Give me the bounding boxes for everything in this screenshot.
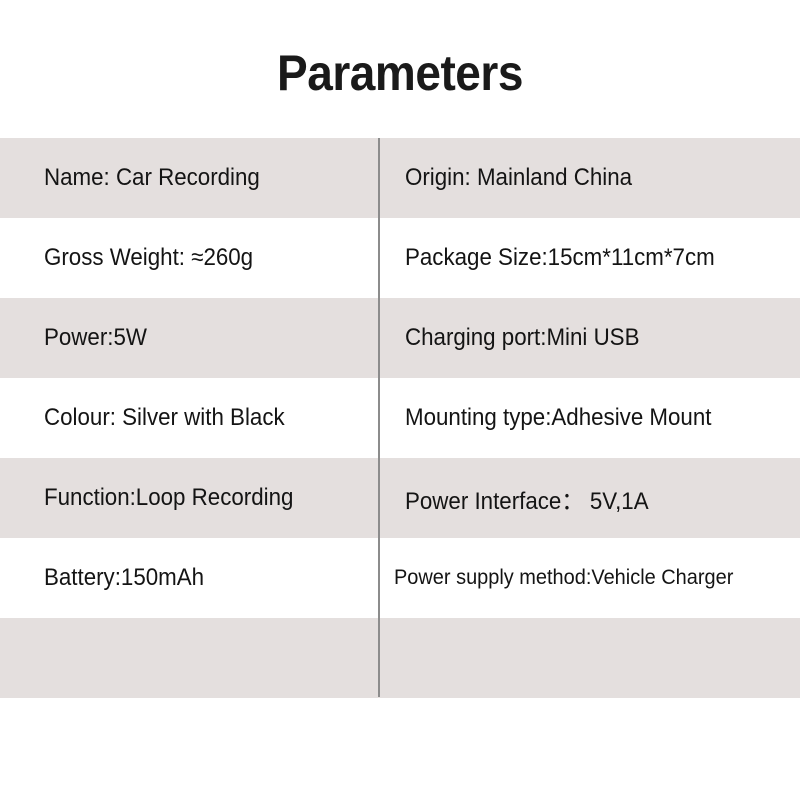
spec-cell-left: Name: Car Recording xyxy=(0,138,379,218)
spec-text: Mounting type:Adhesive Mount xyxy=(405,404,711,432)
spec-cell-left: Power:5W xyxy=(0,298,379,378)
parameters-page: Parameters Name: Car Recording Origin: M… xyxy=(0,0,800,800)
page-title: Parameters xyxy=(32,48,768,98)
spec-text: Power:5W xyxy=(44,324,147,352)
spec-cell-right: Power supply method:Vehicle Charger xyxy=(379,538,800,618)
spec-text: Colour: Silver with Black xyxy=(44,404,285,432)
specification-table: Name: Car Recording Origin: Mainland Chi… xyxy=(0,138,800,698)
spec-cell-right: Power Interface： 5V,1A xyxy=(379,458,800,538)
table-row: Function:Loop Recording Power Interface：… xyxy=(0,458,800,538)
spec-text: Power Interface： 5V,1A xyxy=(405,481,649,516)
spec-text: Power supply method:Vehicle Charger xyxy=(394,566,733,590)
spec-cell-right: Origin: Mainland China xyxy=(379,138,800,218)
spec-cell-left: Gross Weight: ≈260g xyxy=(0,218,379,298)
spec-cell-right xyxy=(379,618,800,698)
spec-cell-left xyxy=(0,618,379,698)
spec-text: Charging port:Mini USB xyxy=(405,324,639,352)
spec-text: Battery:150mAh xyxy=(44,564,204,592)
table-row: Name: Car Recording Origin: Mainland Chi… xyxy=(0,138,800,218)
spec-text: Package Size:15cm*11cm*7cm xyxy=(405,244,715,272)
spec-cell-left: Function:Loop Recording xyxy=(0,458,379,538)
spec-cell-right: Charging port:Mini USB xyxy=(379,298,800,378)
spec-text: Origin: Mainland China xyxy=(405,164,632,192)
table-row: Gross Weight: ≈260g Package Size:15cm*11… xyxy=(0,218,800,298)
spec-text: Name: Car Recording xyxy=(44,164,260,192)
table-row: Colour: Silver with Black Mounting type:… xyxy=(0,378,800,458)
spec-cell-right: Package Size:15cm*11cm*7cm xyxy=(379,218,800,298)
spec-cell-left: Battery:150mAh xyxy=(0,538,379,618)
table-row: Power:5W Charging port:Mini USB xyxy=(0,298,800,378)
column-divider xyxy=(378,138,380,697)
spec-cell-left: Colour: Silver with Black xyxy=(0,378,379,458)
spec-text: Gross Weight: ≈260g xyxy=(44,244,253,272)
spec-cell-right: Mounting type:Adhesive Mount xyxy=(379,378,800,458)
table-row-empty xyxy=(0,618,800,698)
table-row: Battery:150mAh Power supply method:Vehic… xyxy=(0,538,800,618)
spec-text: Function:Loop Recording xyxy=(44,484,293,512)
